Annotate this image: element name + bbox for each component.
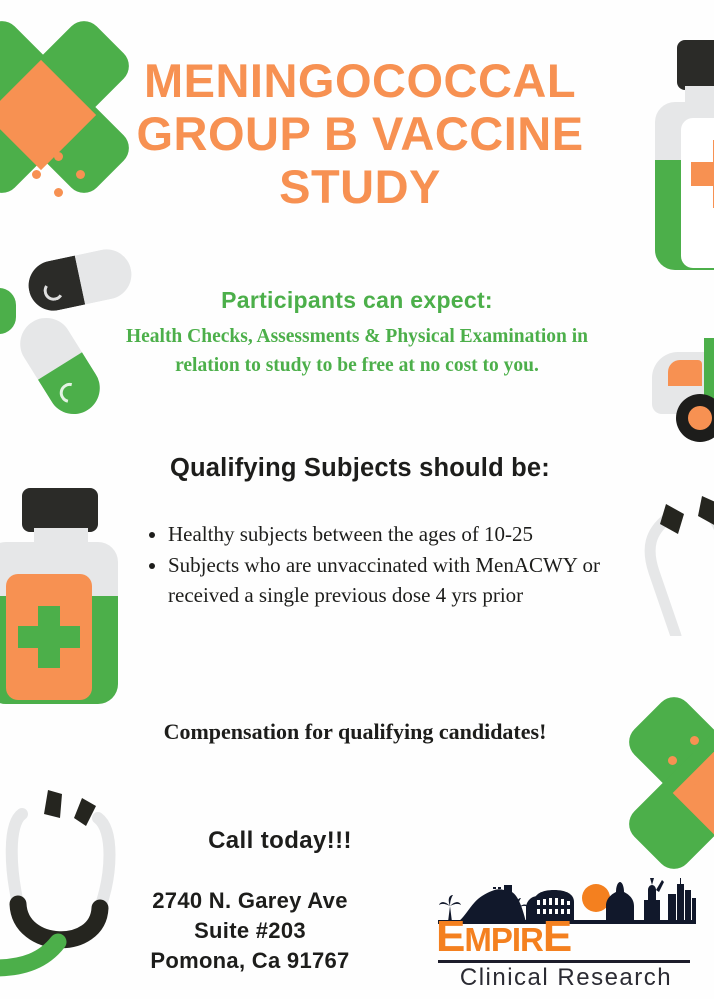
address-line-city: Pomona, Ca 91767 [100, 946, 400, 976]
address-line-street: 2740 N. Garey Ave [100, 886, 400, 916]
pill-fragment-left [0, 288, 16, 334]
cross-icon [691, 162, 714, 186]
bottle-label [681, 118, 714, 268]
page-title: MENINGOCOCCAL GROUP B VACCINE STUDY [96, 54, 624, 213]
address-line-suite: Suite #203 [100, 916, 400, 946]
bandage-icon-bottom-right [626, 694, 714, 884]
ambulance-window [668, 360, 702, 386]
flyer-poster: MENINGOCOCCAL GROUP B VACCINE STUDY Part… [0, 0, 714, 999]
medicine-bottle-left [0, 488, 136, 704]
bandage-dot [54, 188, 63, 197]
clinic-address: 2740 N. Garey Ave Suite #203 Pomona, Ca … [100, 886, 400, 976]
bandage-dot [76, 170, 85, 179]
bandage-dot [32, 170, 41, 179]
logo-wordmark-e2: E [543, 912, 571, 961]
logo-wordmark: EMPIRE [436, 914, 698, 960]
logo-wordmark-mpir: MPIR [464, 921, 543, 958]
empire-clinical-research-logo: EMPIRE Clinical Research [432, 876, 704, 994]
list-item: Healthy subjects between the ages of 10-… [168, 519, 618, 550]
bottle-cap [22, 488, 98, 532]
participants-expect-heading: Participants can expect: [107, 287, 607, 314]
bandage-dot [690, 776, 699, 785]
compensation-text: Compensation for qualifying candidates! [130, 715, 580, 748]
stethoscope-icon-right [636, 486, 714, 636]
bandage-dot [690, 736, 699, 745]
ambulance-wheel [676, 394, 714, 442]
medicine-bottle-top-right [655, 40, 714, 270]
ambulance-icon [652, 338, 714, 446]
ambulance-wheel-hub [688, 406, 713, 431]
qualifying-subjects-list: Healthy subjects between the ages of 10-… [140, 519, 618, 611]
bandage-dot [668, 756, 677, 765]
participants-expect-body: Health Checks, Assessments & Physical Ex… [107, 322, 607, 380]
bottle-cap [677, 40, 714, 90]
capsule-green-icon [10, 308, 109, 424]
cross-icon [18, 626, 80, 648]
call-to-action-text: Call today!!! [120, 827, 440, 855]
logo-tagline: Clinical Research [438, 964, 694, 992]
sun-icon [582, 884, 610, 912]
logo-wordmark-e1: E [436, 912, 464, 961]
list-item: Subjects who are unvaccinated with MenAC… [168, 550, 618, 611]
bandage-dot [54, 152, 63, 161]
logo-divider [438, 960, 690, 963]
qualifying-subjects-heading: Qualifying Subjects should be: [120, 454, 600, 483]
